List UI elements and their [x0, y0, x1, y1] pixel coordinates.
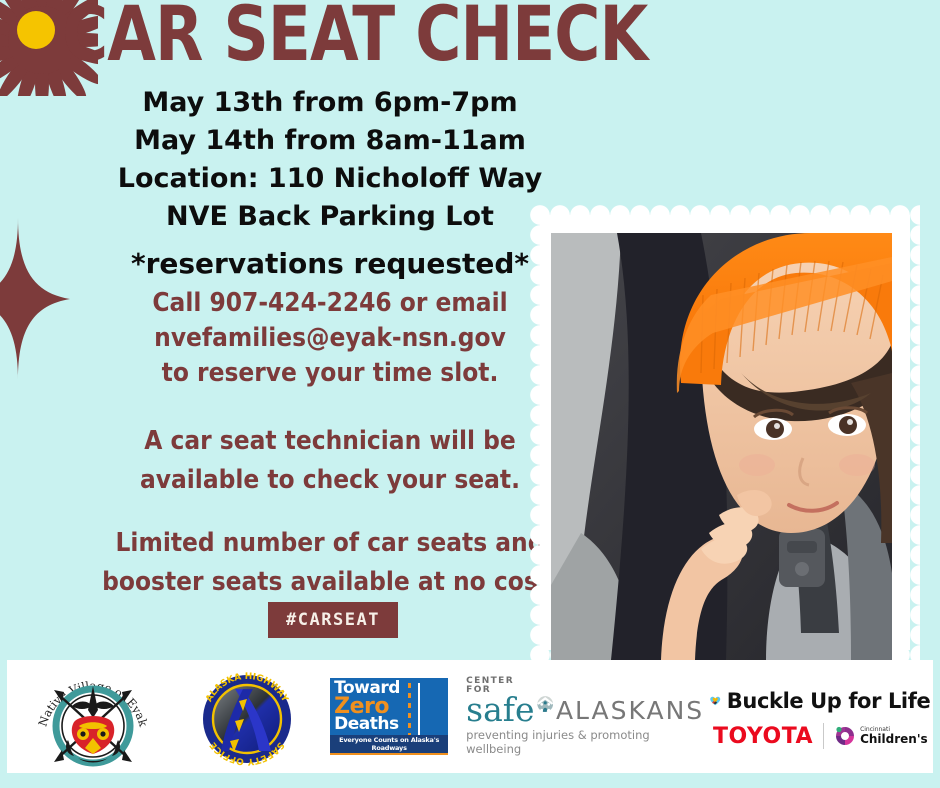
event-detail-line: May 13th from 6pm-7pm [0, 84, 660, 122]
logo-alaska-highway-safety-office: ALASKA HIGHWAY SAFETY OFFICE [178, 660, 315, 773]
tzd-rule [330, 753, 448, 755]
logo-divider [823, 723, 824, 749]
buckle-up-title: Buckle Up for Life [727, 689, 931, 713]
tzd-tagline: Everyone Counts on Alaska's Roadways [330, 735, 448, 753]
logo-toward-zero-deaths: Toward Zero Deaths Everyone Counts on Al… [316, 660, 463, 773]
event-detail-line: May 14th from 8am-11am [0, 122, 660, 160]
tzd-line-3: Deaths [334, 717, 400, 733]
hashtag-badge: #CARSEAT [268, 602, 398, 638]
childrens-label: Children's [860, 733, 928, 745]
safe-alaskans-wordmark: ALASKANS [556, 698, 704, 725]
safe-wordmark: safe [466, 696, 534, 724]
cincinnati-childrens-icon [834, 725, 856, 747]
event-detail-line: Location: 110 Nicholoff Way [0, 160, 660, 198]
sponsor-logo-bar: Native Village of Eyak [7, 660, 933, 773]
page-title: CAR SEAT CHECK [62, 0, 647, 72]
alaska-highway-safety-office-icon: ALASKA HIGHWAY SAFETY OFFICE [195, 667, 299, 767]
photo-image [551, 233, 892, 660]
toyota-wordmark: TOYOTA [713, 724, 813, 749]
logo-center-for-safe-alaskans: CENTER FOR safe ALASKANS [463, 660, 708, 773]
tzd-road-graphic [404, 681, 426, 732]
flyer-canvas: CAR SEAT CHECK May 13th from 6pm-7pm May… [0, 0, 940, 788]
logo-native-village-of-eyak: Native Village of Eyak [7, 660, 178, 773]
buckle-heart-icon [710, 684, 720, 718]
safe-alaskans-house-icon [537, 683, 553, 725]
safe-alaskans-tagline: preventing injuries & promoting wellbein… [466, 728, 704, 756]
child-in-car-seat-photo [551, 233, 892, 660]
logo-buckle-up-for-life: Buckle Up for Life TOYOTA [708, 660, 933, 773]
native-village-of-eyak-icon: Native Village of Eyak [34, 666, 152, 768]
